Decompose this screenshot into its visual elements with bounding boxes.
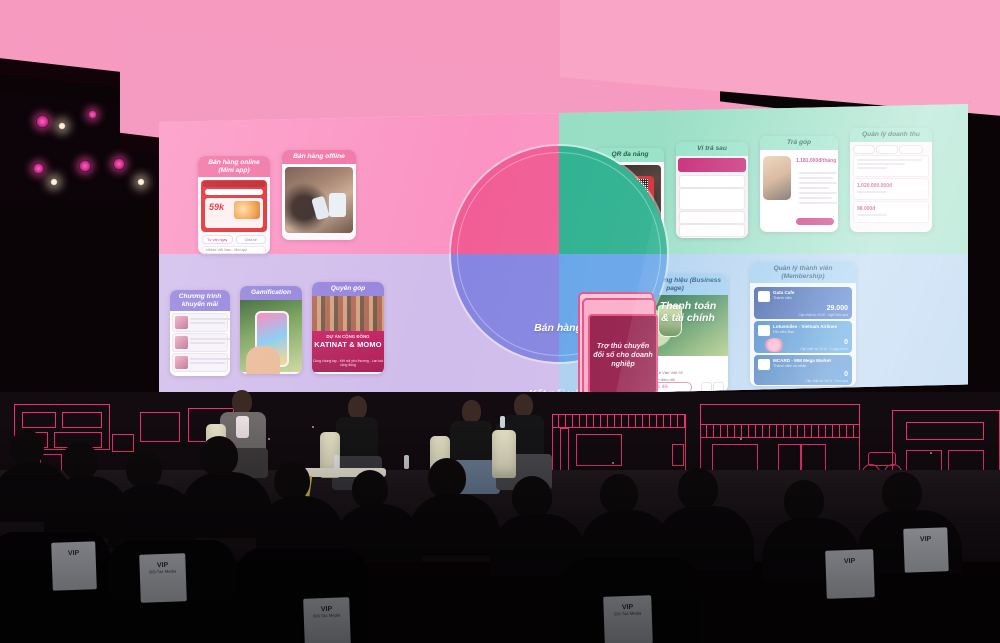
food-image [234,201,260,219]
vip-seat-card: VIP [903,527,949,573]
card-body: Gata Cafe Thành viên 29.000 Cập nhật lúc… [750,283,856,386]
card-title-sell-offline: Bán hàng offline [282,150,356,164]
promo-thumb [175,356,188,369]
wallet-row [679,211,745,224]
donation-banner-art: DỰ ÁN CỘNG ĐỒNG KATINAT & MOMO Cùng chun… [312,296,384,372]
vip-tier: VIP [825,557,873,566]
membership-points: 0 [844,339,848,346]
offline-store-photo [285,167,353,233]
audience-head [352,470,388,508]
revenue-value-3: 98.000đ [857,206,928,212]
gamification-photo [240,300,302,372]
card-body [170,311,230,376]
membership-points: 0 [844,371,848,378]
vip-tier: VIP [904,535,948,544]
miniapp-promo-panel: 59k [205,198,263,228]
promotion-list-art [170,311,230,376]
card-body [676,156,748,236]
membership-name: MCARD - MM Mega Market [773,358,831,363]
promo-item [172,313,228,332]
card-body [240,300,302,372]
ceiling-spotlight-pink [36,115,49,128]
membership-note: Cập nhật lúc 16:10 · 2 ngày trước [800,347,848,351]
ceiling-spotlight-white [50,178,58,186]
wallet-header [678,158,746,172]
card-title-promotion: Chương trình khuyến mãi [170,290,230,311]
holding-hand [246,346,280,374]
audience-area: VIP VIP Đối Tác Media VIP Đối Tác Media … [0,420,1000,643]
brand-logo-icon [758,325,770,336]
membership-row[interactable]: Lotusmiles - Vietnam Airlines Hội viên B… [754,321,852,353]
share-icon[interactable] [701,382,712,392]
membership-row[interactable]: Gata Cafe Thành viên 29.000 Cập nhật lúc… [754,287,852,319]
card-title-revenue: Quản lý doanh thu [850,128,932,142]
card-body [282,164,356,238]
ceiling-spotlight-pink [33,163,44,174]
donation-line1: DỰ ÁN CỘNG ĐỒNG [312,334,384,339]
audience-head [200,436,238,476]
donation-line2: KATINAT & MOMO [312,340,384,349]
wallet-row [679,224,745,237]
children-photo [312,296,384,331]
audience-shoulders [256,496,344,556]
audience-head [274,462,310,500]
vip-sub: Đối Tác Media [140,568,186,575]
chip-week[interactable] [876,145,898,154]
card-body: DỰ ÁN CỘNG ĐỒNG KATINAT & MOMO Cùng chun… [312,296,384,372]
vip-sub: Đối Tác Media [304,612,350,619]
slide-content: Bán hàng online (Mini app) 59k [150,104,968,404]
revenue-dashboard-art: 1.020.000.000đ 98.000đ [850,142,932,226]
ceiling-spotlight-pink [88,110,97,119]
lotus-flower-icon [764,338,786,352]
ceiling-spotlight-white [137,178,145,186]
audience-head [784,480,824,522]
product-image-iphone [763,156,791,200]
label-payment: Thanh toán & tài chính [656,300,720,324]
btn-share[interactable]: Chia sẻ [236,235,267,244]
audience-head [600,474,638,514]
audience-shoulders [408,494,500,556]
vip-sub: Đối Tác Media [604,610,652,617]
installment-price: 1.181.000đ/tháng [796,158,836,164]
promo-price: 59k [209,202,224,212]
card-body: 59k Tự vấn ngay Chia sẻ Jollibee Việt Na… [198,177,270,254]
card-installment: Trả góp 1.181.000đ/tháng [760,136,838,232]
ceiling-spotlight-white [58,122,66,130]
card-title-wallet-later: Ví trả sau [676,142,748,156]
miniapp-search-bar [205,189,263,195]
led-presentation-screen: Bán hàng online (Mini app) 59k [150,104,968,404]
card-sell-online: Bán hàng online (Mini app) 59k [198,156,270,254]
audience-head [512,476,552,518]
card-title-donation: Quyên góp [312,282,384,296]
membership-tier: Hội viên Bạc [773,330,794,334]
card-gamification: Gamification [240,286,302,374]
installment-screenshot-art: 1.181.000đ/tháng [760,150,838,230]
panelist-head [232,390,252,414]
membership-row[interactable]: MCARD - MM Mega Market Thành viên cá nhâ… [754,355,852,385]
miniapp-footer: Jollibee Việt Nam - Mini app [202,246,266,254]
membership-tier: Thành viên cá nhân [773,364,806,368]
promo-thumb [175,336,188,349]
audience-head [678,468,718,510]
card-body: 1.181.000đ/tháng [760,150,838,230]
card-title-installment: Trả góp [760,136,838,150]
book-front-cover: Trợ thủ chuyển đổi số cho doanh nghiệp [588,314,658,394]
vip-seat-card: VIP Đối Tác Media [603,595,653,643]
card-body: 1.020.000.000đ 98.000đ [850,142,932,226]
card-membership: Quản lý thành viên (Membership) Gata Caf… [750,262,856,386]
revenue-stat-box: 1.020.000.000đ [853,178,929,200]
audience-head [882,472,922,514]
btn-consult[interactable]: Tự vấn ngay [202,235,233,244]
vip-seat-card: VIP [51,541,97,591]
membership-name: Lotusmiles - Vietnam Airlines [773,324,837,329]
book-title-text: Trợ thủ chuyển đổi số cho doanh nghiệp [590,341,656,368]
card-title-gamification: Gamification [240,286,302,300]
miniapp-header-bar [203,181,265,187]
wallet-screenshot-art [676,156,748,236]
card-promotion: Chương trình khuyến mãi [170,290,230,376]
vip-seat-card: VIP [825,549,875,599]
card-title-sell-online: Bán hàng online (Mini app) [198,156,270,177]
audience-head [428,458,466,498]
brand-logo-icon [758,291,770,302]
customer-phone [311,196,330,221]
vip-tier: VIP [51,549,95,558]
membership-name: Gata Cafe [773,290,794,295]
audience-head [10,430,44,466]
vip-seat-card: VIP Đối Tác Media [303,597,351,643]
wallet-row [679,175,745,188]
chip-month[interactable] [899,145,923,154]
panelist-head [514,394,533,417]
promo-item [172,333,228,352]
card-donation: Quyên góp DỰ ÁN CỘNG ĐỒNG KATINAT & MOMO… [312,282,384,374]
buy-now-button[interactable] [796,218,834,225]
audience-head [62,442,98,480]
donation-line3: Cùng chung tay - Kết nối yêu thương - La… [312,359,384,367]
revenue-overview-box [853,155,929,177]
panelist-head [348,396,367,419]
promo-thumb [175,316,188,329]
revenue-value-1: 1.020.000.000đ [857,183,928,189]
membership-note: Cập nhật lúc 16:01 · Hôm qua [805,379,848,383]
audience-head [126,450,162,488]
membership-points: 29.000 [827,305,848,312]
miniapp-action-row: Tự vấn ngay Chia sẻ [202,235,266,244]
membership-note: Cập nhật lúc 15:20 · Nghỉ hôm qua [799,313,848,317]
membership-tier: Thành viên [773,296,792,300]
pos-terminal [329,193,346,217]
card-sell-offline: Bán hàng offline [282,150,356,240]
miniapp-screenshot: 59k [201,180,267,232]
promo-item [172,353,228,372]
store-counter-photo [285,167,353,233]
card-title-membership: Quản lý thành viên (Membership) [750,262,856,283]
wallet-row [679,188,745,210]
brand-logo-icon [758,359,770,370]
card-revenue: Quản lý doanh thu 1.020.000.000đ [850,128,932,232]
vip-seat-card: VIP Đối Tác Media [139,553,187,603]
ceiling-spotlight-pink [79,160,91,172]
more-icon[interactable] [713,382,724,392]
chip-today[interactable] [853,145,875,154]
revenue-stat-box: 98.000đ [853,201,929,223]
conference-photo: Bán hàng online (Mini app) 59k [0,0,1000,643]
card-wallet-later: Ví trả sau [676,142,748,238]
ceiling-spotlight-pink [113,158,125,170]
jollibee-miniapp-art: 59k [201,180,267,232]
